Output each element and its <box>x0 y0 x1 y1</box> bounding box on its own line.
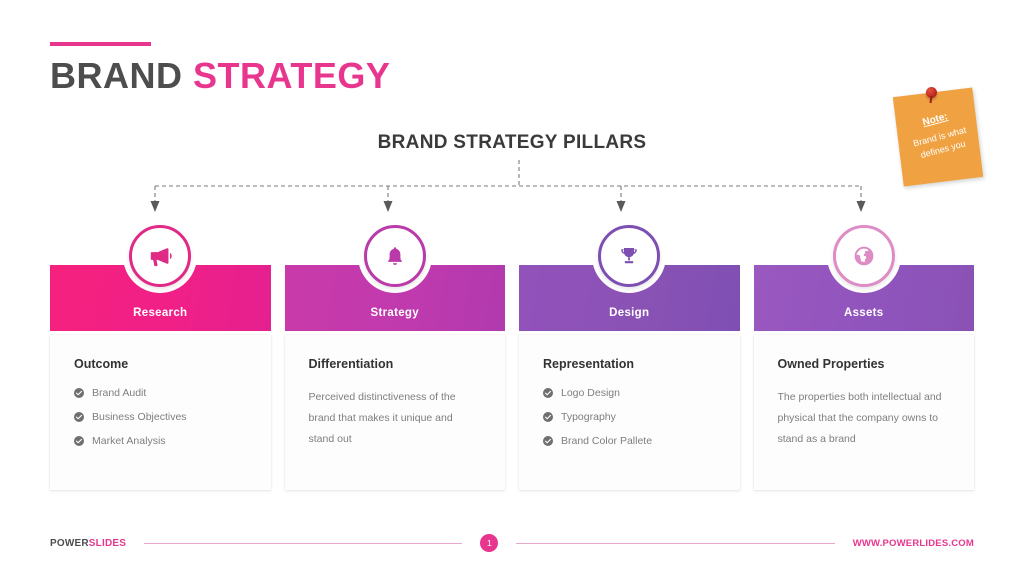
check-circle-icon <box>74 412 84 422</box>
push-pin-icon <box>926 87 937 98</box>
pillar-body-research: Outcome Brand Audit Business Objectives <box>50 335 271 490</box>
brand-logo-part2: SLIDES <box>89 538 126 549</box>
page-title-part2: STRATEGY <box>193 55 390 96</box>
pillar-cards: Research Outcome Brand Audit B <box>50 265 974 490</box>
pillar-icon-wrapper-research <box>129 225 191 287</box>
trophy-icon <box>617 244 641 268</box>
pillar-bullets-research: Brand Audit Business Objectives Market A… <box>74 387 247 447</box>
pillar-bullets-design: Logo Design Typography Brand Color Palle… <box>543 387 716 447</box>
pillar-body-design: Representation Logo Design Typography <box>519 335 740 490</box>
check-circle-icon <box>74 388 84 398</box>
list-item: Logo Design <box>543 387 716 399</box>
list-item: Brand Color Pallete <box>543 435 716 447</box>
footer-divider-right <box>516 543 834 544</box>
bullet-label: Business Objectives <box>92 411 187 423</box>
slide-canvas: BRAND STRATEGY Note: Brand is what defin… <box>0 0 1024 575</box>
bullet-label: Brand Audit <box>92 387 146 399</box>
pillar-card-assets[interactable]: Assets Owned Properties The properties b… <box>754 265 975 490</box>
check-circle-icon <box>543 436 553 446</box>
pillar-description-assets: The properties both intellectual and phy… <box>778 387 951 450</box>
footer: POWERSLIDES 1 WWW.POWERLIDES.COM <box>0 533 1024 553</box>
pillar-icon-wrapper-assets <box>833 225 895 287</box>
pillar-body-title-strategy: Differentiation <box>309 357 482 371</box>
page-title-part1: BRAND <box>50 55 193 96</box>
pillar-body-title-assets: Owned Properties <box>778 357 951 371</box>
pillar-body-title-design: Representation <box>543 357 716 371</box>
brand-logo-part1: POWER <box>50 538 89 549</box>
pillar-card-strategy[interactable]: Strategy Differentiation Perceived disti… <box>285 265 506 490</box>
megaphone-icon <box>147 243 173 269</box>
globe-icon <box>852 244 876 268</box>
bell-icon <box>383 244 407 268</box>
bullet-label: Logo Design <box>561 387 620 399</box>
list-item: Brand Audit <box>74 387 247 399</box>
pillar-description-strategy: Perceived distinctiveness of the brand t… <box>309 387 482 450</box>
pillar-card-design[interactable]: Design Representation Logo Design <box>519 265 740 490</box>
bullet-label: Market Analysis <box>92 435 166 447</box>
pillar-name-design: Design <box>609 307 649 319</box>
page-number-badge: 1 <box>480 534 498 552</box>
section-title: BRAND STRATEGY PILLARS <box>0 132 1024 154</box>
bullet-label: Brand Color Pallete <box>561 435 652 447</box>
check-circle-icon <box>74 436 84 446</box>
dashed-tree-connector-icon <box>0 160 1024 220</box>
check-circle-icon <box>543 388 553 398</box>
pillar-name-strategy: Strategy <box>371 307 419 319</box>
list-item: Typography <box>543 411 716 423</box>
pillar-body-strategy: Differentiation Perceived distinctivenes… <box>285 335 506 490</box>
pillar-body-assets: Owned Properties The properties both int… <box>754 335 975 490</box>
list-item: Market Analysis <box>74 435 247 447</box>
pillar-body-title-research: Outcome <box>74 357 247 371</box>
bullet-label: Typography <box>561 411 616 423</box>
pillar-card-research[interactable]: Research Outcome Brand Audit B <box>50 265 271 490</box>
pillar-name-assets: Assets <box>844 307 884 319</box>
check-circle-icon <box>543 412 553 422</box>
pillar-icon-wrapper-design <box>598 225 660 287</box>
footer-url[interactable]: WWW.POWERLIDES.COM <box>853 538 974 549</box>
title-accent-rule <box>50 42 151 46</box>
page-title: BRAND STRATEGY <box>50 54 390 98</box>
pillar-icon-wrapper-strategy <box>364 225 426 287</box>
list-item: Business Objectives <box>74 411 247 423</box>
brand-logo: POWERSLIDES <box>50 538 126 549</box>
pillar-name-research: Research <box>133 307 187 319</box>
footer-divider-left <box>144 543 462 544</box>
